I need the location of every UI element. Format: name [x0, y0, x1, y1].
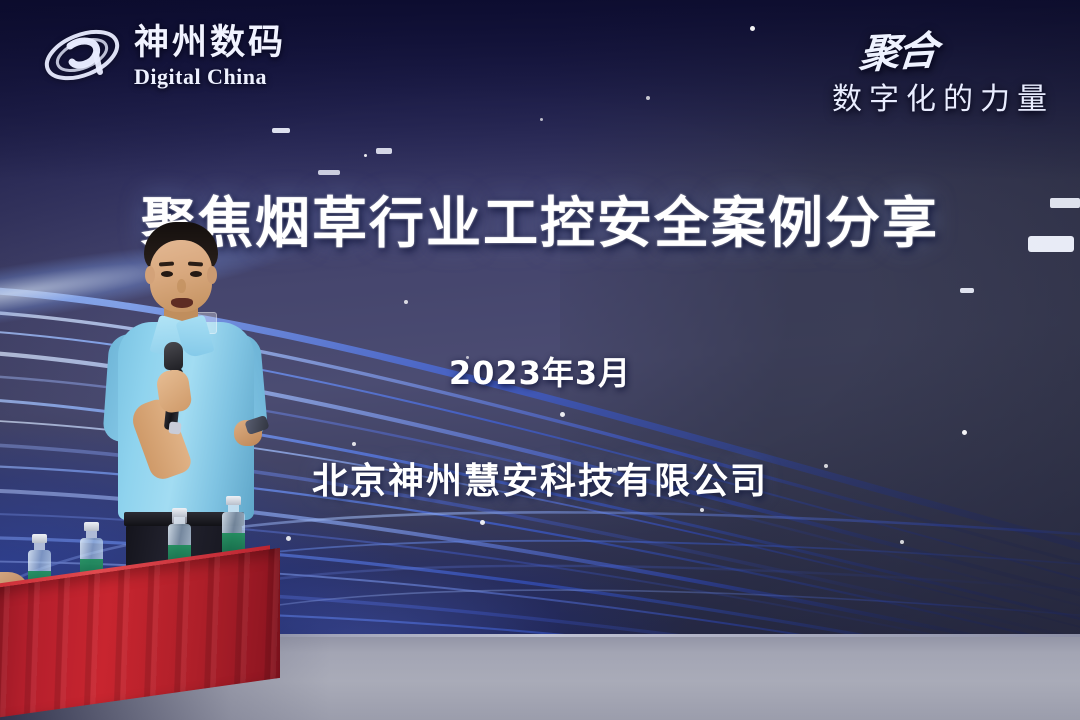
presenter-ear-left — [145, 266, 155, 284]
bottle-neck — [174, 517, 185, 524]
logo-english-text: Digital China — [134, 66, 286, 88]
conference-stage-scene: 神州数码 Digital China 聚合 数字化的力量 聚焦烟草行业工控安全案… — [0, 0, 1080, 720]
slogan-calligraphy: 聚合 — [857, 18, 939, 80]
bottle-cap — [84, 522, 99, 531]
microphone-head-icon — [164, 342, 183, 370]
bottle-neck — [34, 543, 45, 550]
digital-china-logo: 神州数码 Digital China — [40, 18, 286, 92]
presenter-mouth — [171, 298, 193, 308]
bottle-cap — [226, 496, 241, 505]
logo-chinese-text: 神州数码 — [134, 26, 286, 61]
slogan-subtitle: 数字化的力量 — [832, 74, 1054, 118]
digital-china-wordmark: 神州数码 Digital China — [134, 22, 286, 88]
microphone-tip — [168, 421, 181, 434]
foreground-head-table — [0, 540, 280, 720]
bottle-neck — [228, 505, 239, 512]
presenter-eye-right — [190, 271, 202, 277]
bottle-cap — [172, 508, 187, 517]
presenter-ear-right — [207, 266, 217, 284]
presenter-eye-left — [161, 271, 173, 277]
bottle-neck — [86, 531, 97, 538]
presenter-nose — [177, 279, 186, 293]
bottle-cap — [32, 534, 47, 543]
event-slogan: 聚合 数字化的力量 — [832, 20, 1054, 118]
swirl-spiral-icon — [40, 18, 124, 92]
